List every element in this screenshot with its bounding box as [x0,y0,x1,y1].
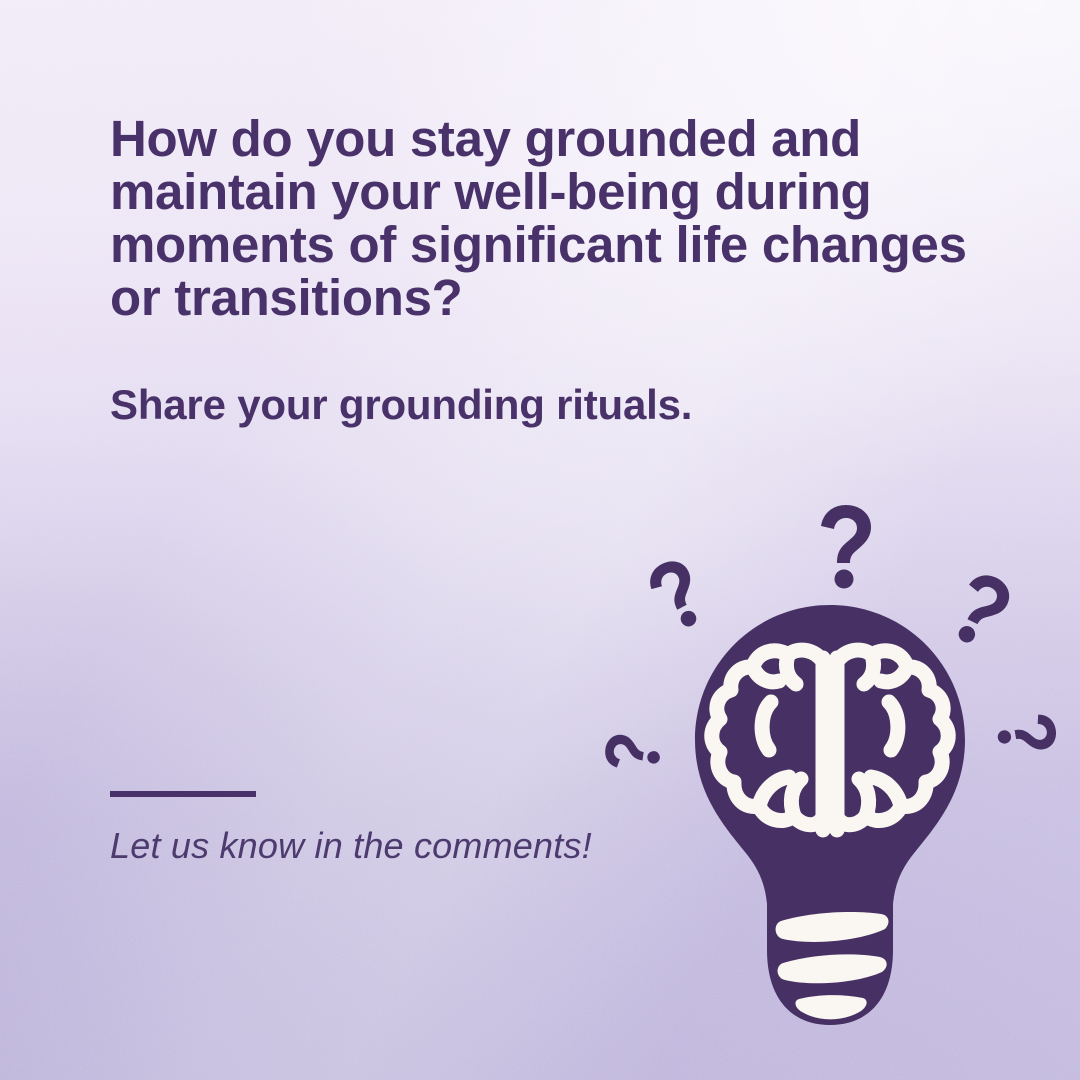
question-mark-upper-right [946,568,1016,651]
question-mark-lower-right [995,712,1059,757]
question-mark-lower-left [603,733,662,773]
social-post-canvas: How do you stay grounded and maintain yo… [0,0,1080,1080]
lightbulb-brain-illustration [575,480,1080,1060]
divider-rule [110,791,256,797]
question-mark-top [821,505,871,589]
page-title: How do you stay grounded and maintain yo… [110,112,1000,324]
question-mark-upper-left [643,555,711,635]
page-subtitle: Share your grounding rituals. [110,381,1000,429]
